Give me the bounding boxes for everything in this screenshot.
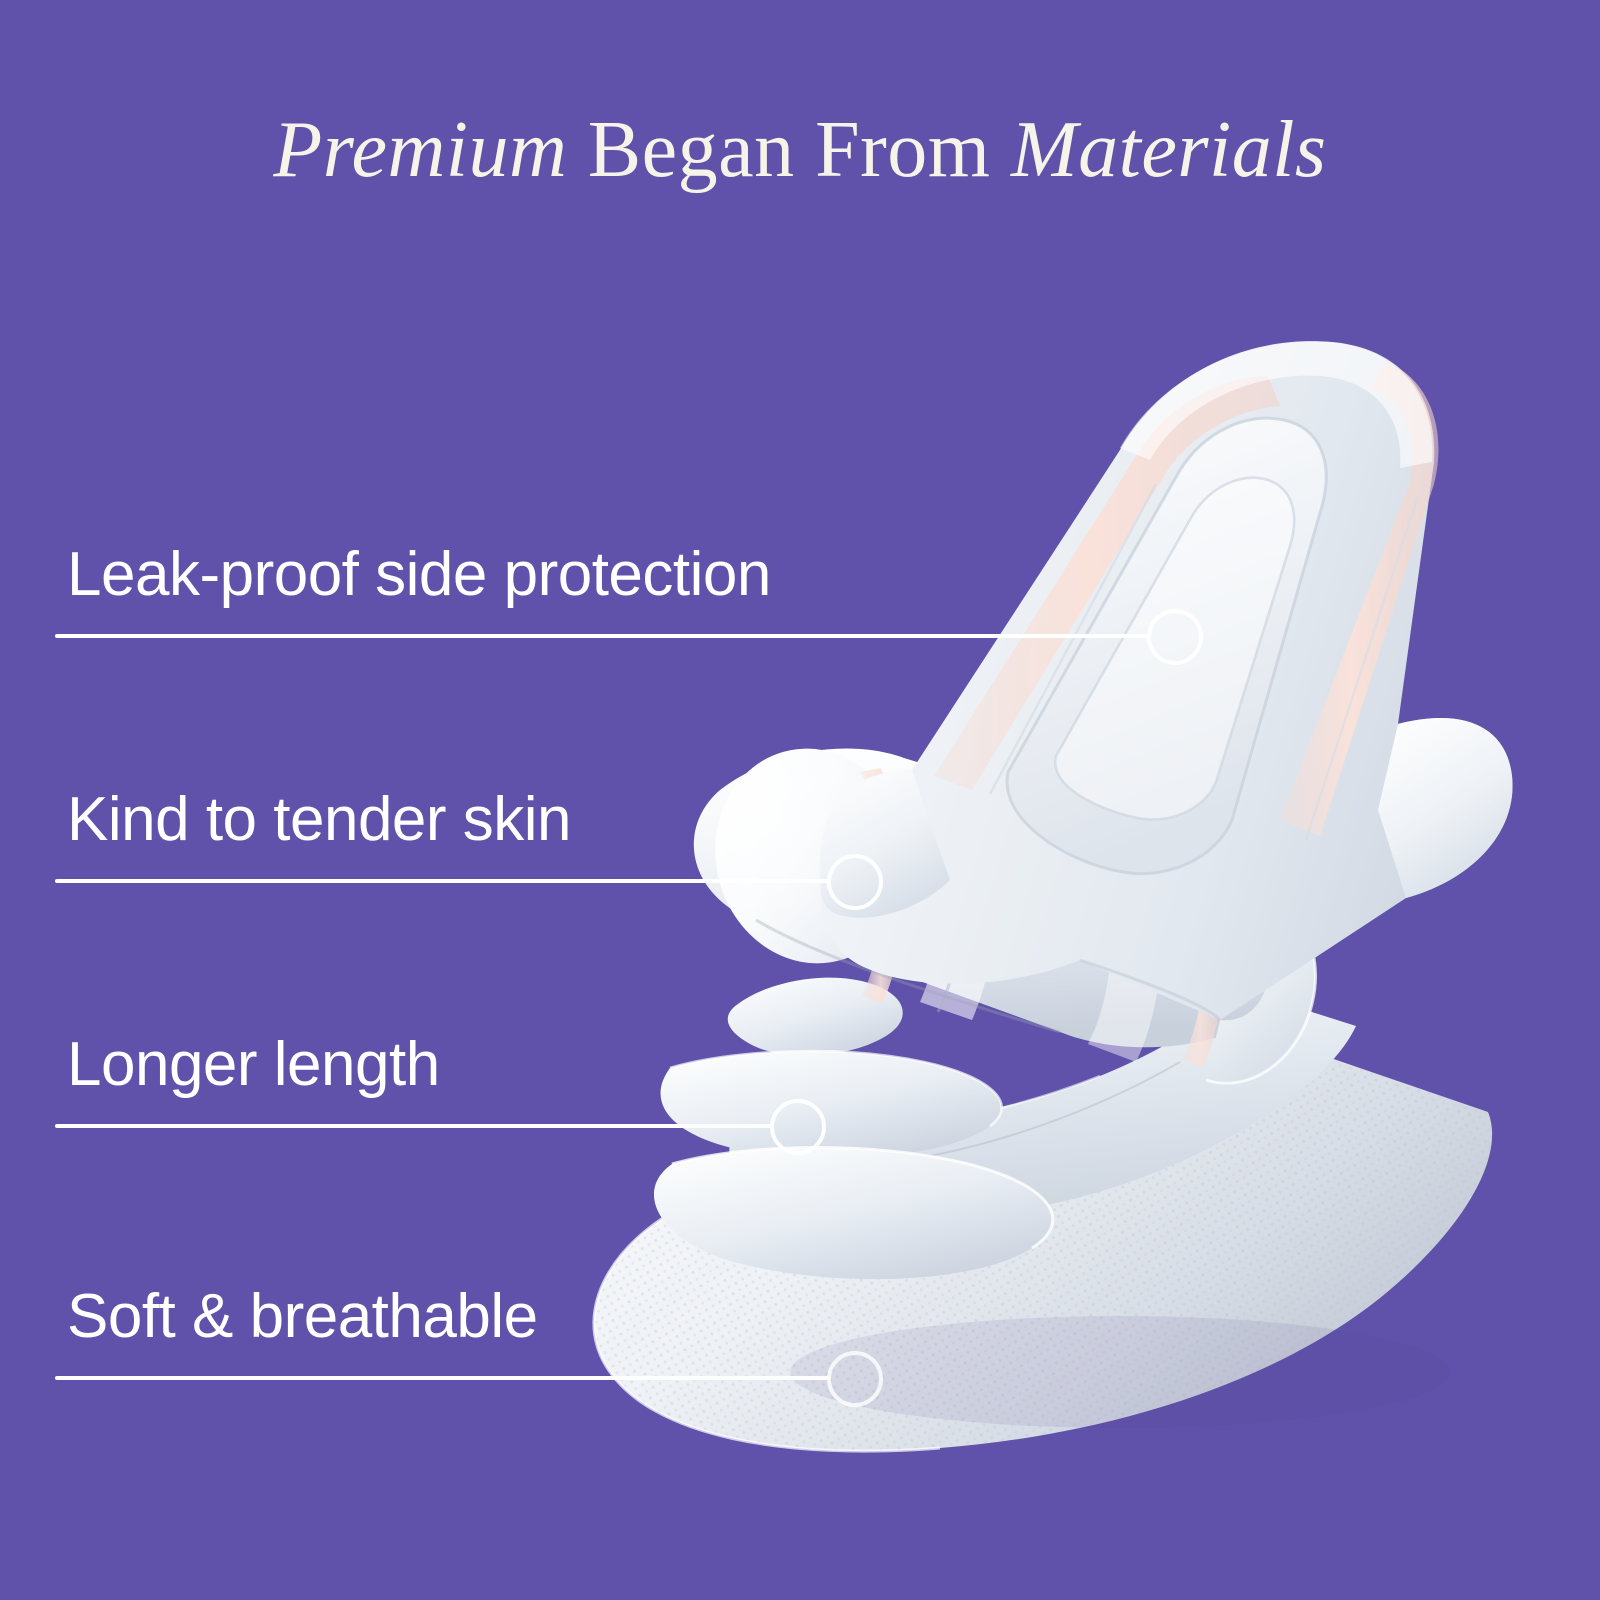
page-title: Premium Began From Materials (0, 108, 1600, 192)
callout-ring-icon (827, 854, 883, 910)
feature-callout-1[interactable]: Leak-proof side protection (55, 510, 1600, 638)
pad-top-sheet (820, 341, 1513, 1020)
callout-ring-icon (827, 1351, 883, 1407)
callout-ring-icon (770, 1099, 826, 1155)
leader-line-1 (55, 634, 1148, 638)
infographic-canvas: Premium Began From Materials (0, 0, 1600, 1600)
page-title-emphasis-end: Materials (1011, 106, 1327, 194)
leader-line-3 (55, 1124, 773, 1128)
callout-ring-icon (1147, 609, 1203, 665)
feature-label-2: Kind to tender skin (67, 789, 571, 851)
feature-label-1: Leak-proof side protection (67, 544, 771, 606)
leader-line-4 (55, 1376, 830, 1380)
page-title-middle: Began From (567, 106, 1011, 194)
feature-callout-4[interactable]: Soft & breathable (55, 1252, 1600, 1380)
leader-line-2 (55, 879, 830, 883)
feature-label-3: Longer length (67, 1034, 440, 1096)
page-title-emphasis-start: Premium (273, 106, 567, 194)
feature-label-4: Soft & breathable (67, 1286, 538, 1348)
feature-callout-2[interactable]: Kind to tender skin (55, 755, 1600, 883)
feature-callout-3[interactable]: Longer length (55, 1000, 1600, 1128)
